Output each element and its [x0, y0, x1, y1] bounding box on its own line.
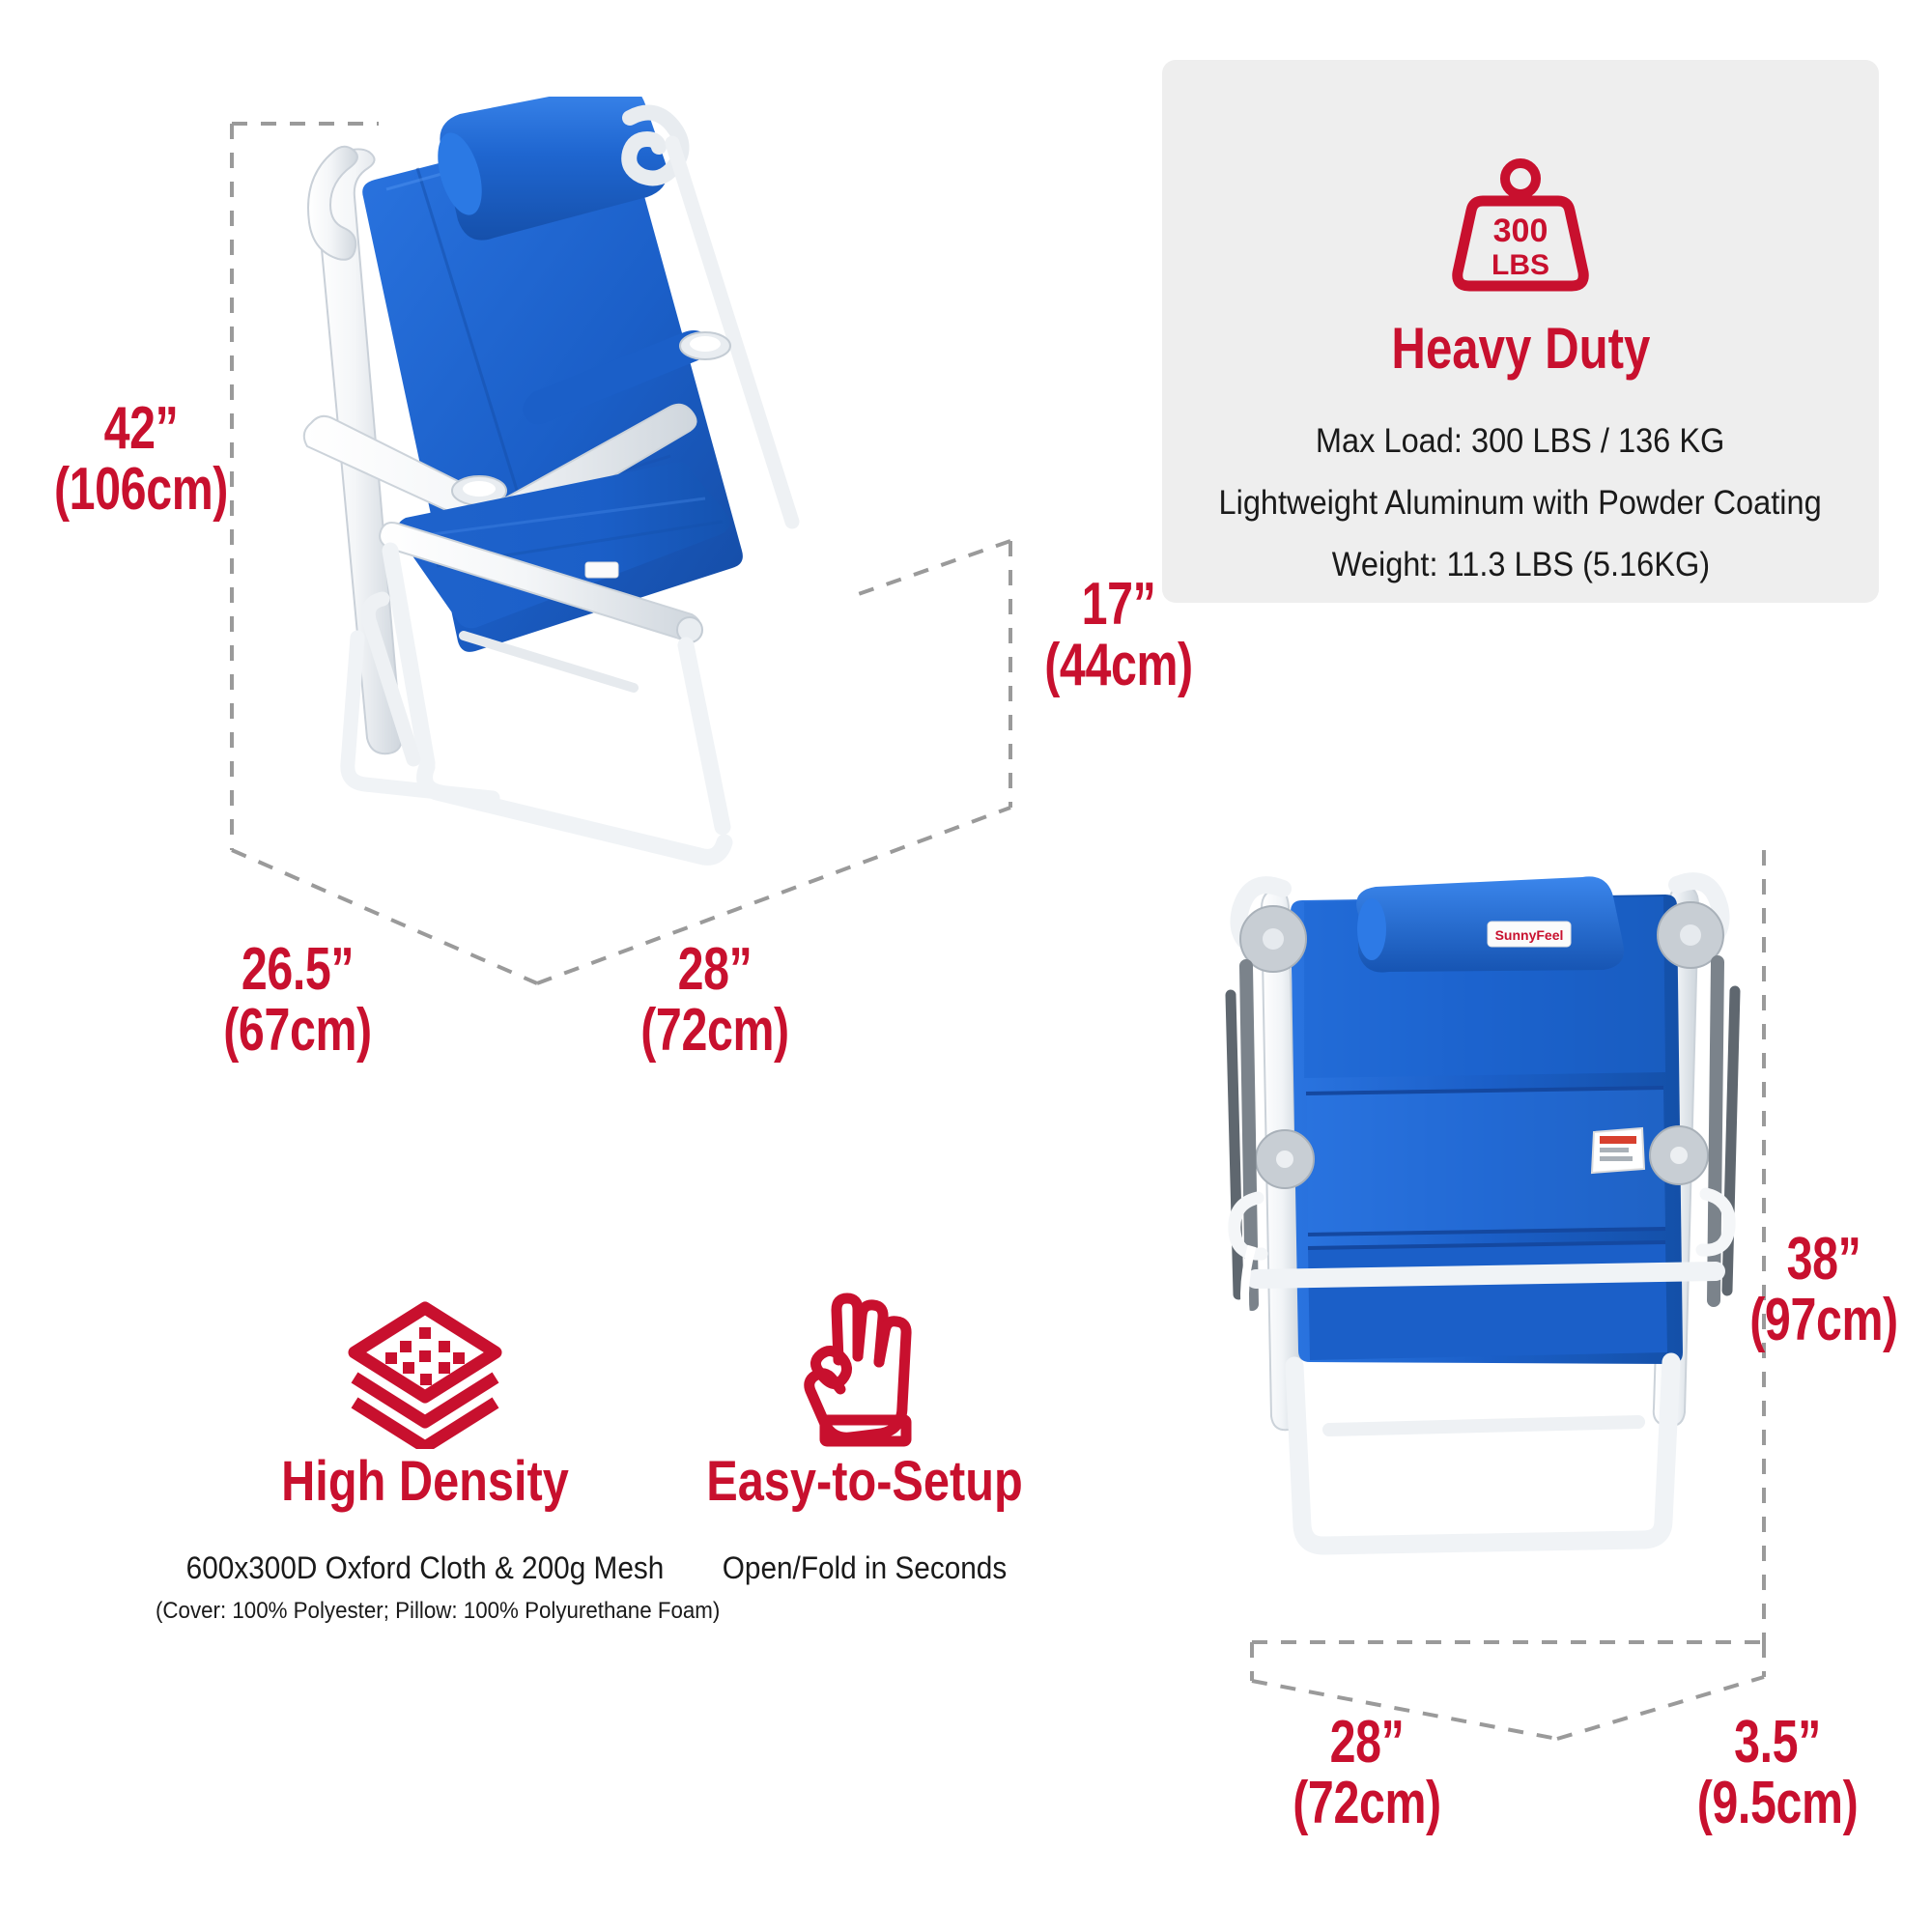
open-chair-photo [290, 97, 985, 869]
width-cm-value: (67cm) [192, 1000, 403, 1061]
weight-icon-unit-lbs: LBS [1492, 249, 1549, 281]
spec-line-weight: Weight: 11.3 LBS (5.16KG) [1331, 546, 1709, 584]
spec-line-material: Lightweight Aluminum with Powder Coating [1219, 484, 1822, 523]
seat-height-cm-value: (44cm) [1036, 635, 1202, 696]
depth-cm-value: (72cm) [610, 1000, 820, 1061]
open-chair-height-label: 42” (106cm) [43, 398, 240, 520]
folded-thickness-inch-value: 3.5” [1672, 1712, 1883, 1773]
folded-chair-width-label: 28” (72cm) [1265, 1712, 1469, 1833]
feature-easy-setup-title: Easy-to-Setup [617, 1449, 1112, 1514]
weight-300lbs-icon: 300 LBS [1448, 155, 1593, 299]
folded-width-inch-value: 28” [1265, 1712, 1469, 1773]
open-chair-width-label: 26.5” (67cm) [192, 939, 403, 1061]
folded-width-cm-value: (72cm) [1265, 1773, 1469, 1833]
feature-easy-setup: Easy-to-Setup Open/Fold in Seconds [570, 1304, 1159, 1586]
brand-label-text: SunnyFeel [1495, 927, 1564, 943]
folded-thickness-cm-value: (9.5cm) [1672, 1773, 1883, 1833]
feature-high-density-note: (Cover: 100% Polyester; Pillow: 100% Pol… [156, 1598, 695, 1625]
folded-chair-height-label: 38” (97cm) [1740, 1229, 1909, 1350]
folded-chair-photo: SunnyFeel [1188, 850, 1787, 1623]
folded-height-inch-value: 38” [1740, 1229, 1909, 1290]
height-cm-value: (106cm) [43, 459, 240, 520]
product-dimension-infographic: 42” (106cm) 26.5” (67cm) 28” (72cm) 17” … [0, 0, 1932, 1932]
width-inch-value: 26.5” [192, 939, 403, 1000]
folded-chair-thickness-label: 3.5” (9.5cm) [1672, 1712, 1883, 1833]
spec-line-max-load: Max Load: 300 LBS / 136 KG [1316, 422, 1724, 461]
ok-hand-icon [570, 1304, 1159, 1449]
feature-easy-setup-subtitle: Open/Fold in Seconds [590, 1550, 1138, 1586]
open-chair-depth-label: 28” (72cm) [610, 939, 820, 1061]
weight-icon-value-300: 300 [1493, 213, 1548, 249]
height-inch-value: 42” [43, 398, 240, 459]
heavy-duty-spec-panel: 300 LBS Heavy Duty Max Load: 300 LBS / 1… [1162, 60, 1879, 603]
depth-inch-value: 28” [610, 939, 820, 1000]
folded-height-cm-value: (97cm) [1740, 1290, 1909, 1350]
spec-panel-title: Heavy Duty [1391, 315, 1650, 382]
